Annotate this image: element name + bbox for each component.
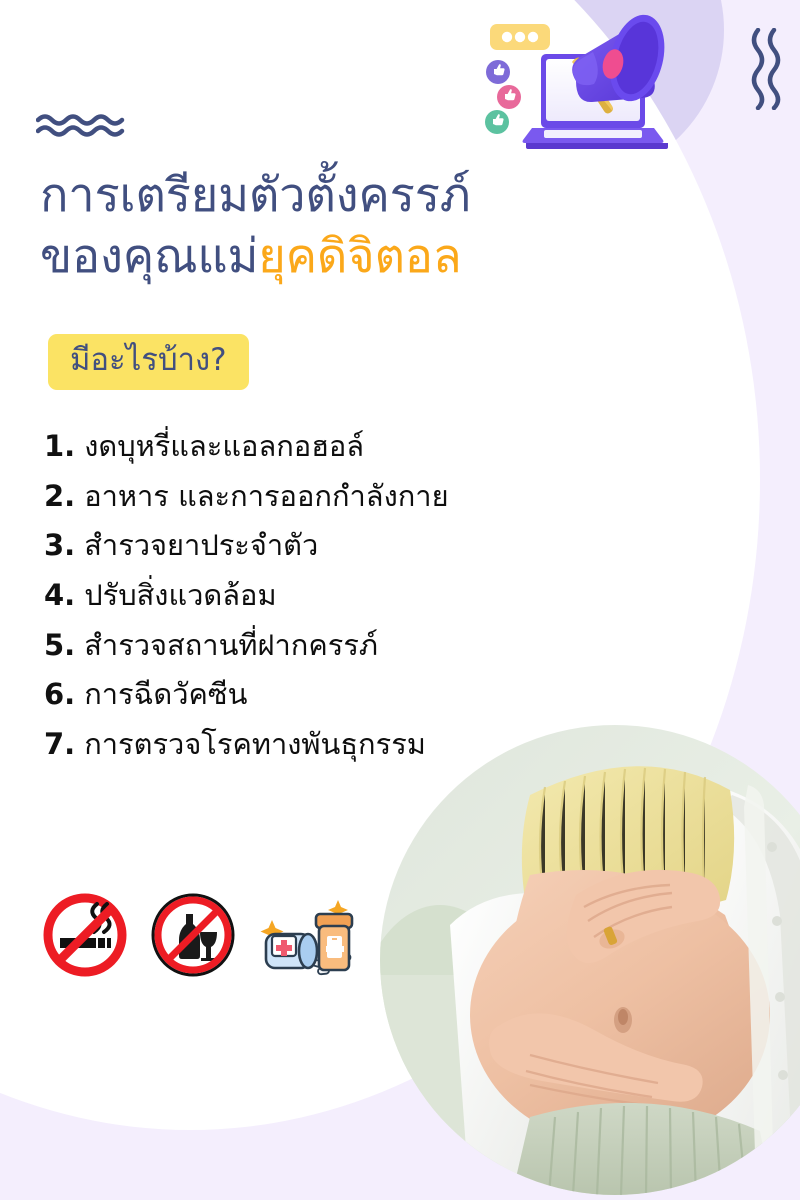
list-item-number: 4. (44, 579, 75, 613)
chat-bubble-icon (490, 24, 550, 50)
list-item: 5. สำรวจสถานที่ฝากครรภ์ (44, 629, 564, 663)
list-item-number: 3. (44, 529, 75, 563)
list-item-label: ปรับสิ่งแวดล้อม (84, 579, 276, 613)
list-item-number: 1. (44, 430, 75, 464)
list-item-number: 6. (44, 678, 75, 712)
page-title-line-2-plain: ของคุณแม่ (40, 229, 258, 284)
wavy-lines-horizontal-icon (36, 112, 144, 138)
list-item-number: 2. (44, 480, 75, 514)
status-badge: มีอะไรบ้าง? (48, 334, 249, 390)
prohibition-icon-row (42, 892, 358, 978)
page-title-accent: ยุคดิจิตอล (258, 229, 461, 284)
list-item-label: งดบุหรี่และแอลกอฮอล์ (84, 430, 364, 464)
no-alcohol-icon (150, 892, 236, 978)
list-item-label: การฉีดวัคซีน (84, 678, 247, 712)
list-item: 2. อาหาร และการออกกำลังกาย (44, 480, 564, 514)
megaphone-icon (572, 9, 673, 113)
list-item-number: 7. (44, 728, 75, 762)
page-title-line-1: การเตรียมตัวตั้งครรภ์ (40, 165, 660, 226)
list-item-label: สำรวจยาประจำตัว (84, 529, 318, 563)
wavy-lines-vertical-icon (748, 28, 784, 110)
list-item: 6. การฉีดวัคซีน (44, 678, 564, 712)
list-item: 1. งดบุหรี่และแอลกอฮอล์ (44, 430, 564, 464)
pregnant-woman-photo (380, 725, 800, 1195)
list-item: 4. ปรับสิ่งแวดล้อม (44, 579, 564, 613)
list-item-label: การตรวจโรคทางพันธุกรรม (84, 728, 426, 762)
page-title-line-2: ของคุณแม่ยุคดิจิตอล (40, 226, 660, 287)
no-smoking-icon (42, 892, 128, 978)
medicine-bottle-bandage-icon (258, 892, 358, 978)
laptop-megaphone-illustration (440, 2, 690, 152)
list-item: 3. สำรวจยาประจำตัว (44, 529, 564, 563)
list-item-label: สำรวจสถานที่ฝากครรภ์ (84, 629, 378, 663)
thumbs-up-icon (497, 85, 521, 109)
thumbs-up-icon (486, 60, 510, 84)
infographic-poster: การเตรียมตัวตั้งครรภ์ ของคุณแม่ยุคดิจิตอ… (0, 0, 800, 1200)
thumbs-up-icon (485, 110, 509, 134)
list-item-number: 5. (44, 629, 75, 663)
list-item-label: อาหาร และการออกกำลังกาย (84, 480, 448, 514)
page-title: การเตรียมตัวตั้งครรภ์ ของคุณแม่ยุคดิจิตอ… (40, 165, 660, 287)
